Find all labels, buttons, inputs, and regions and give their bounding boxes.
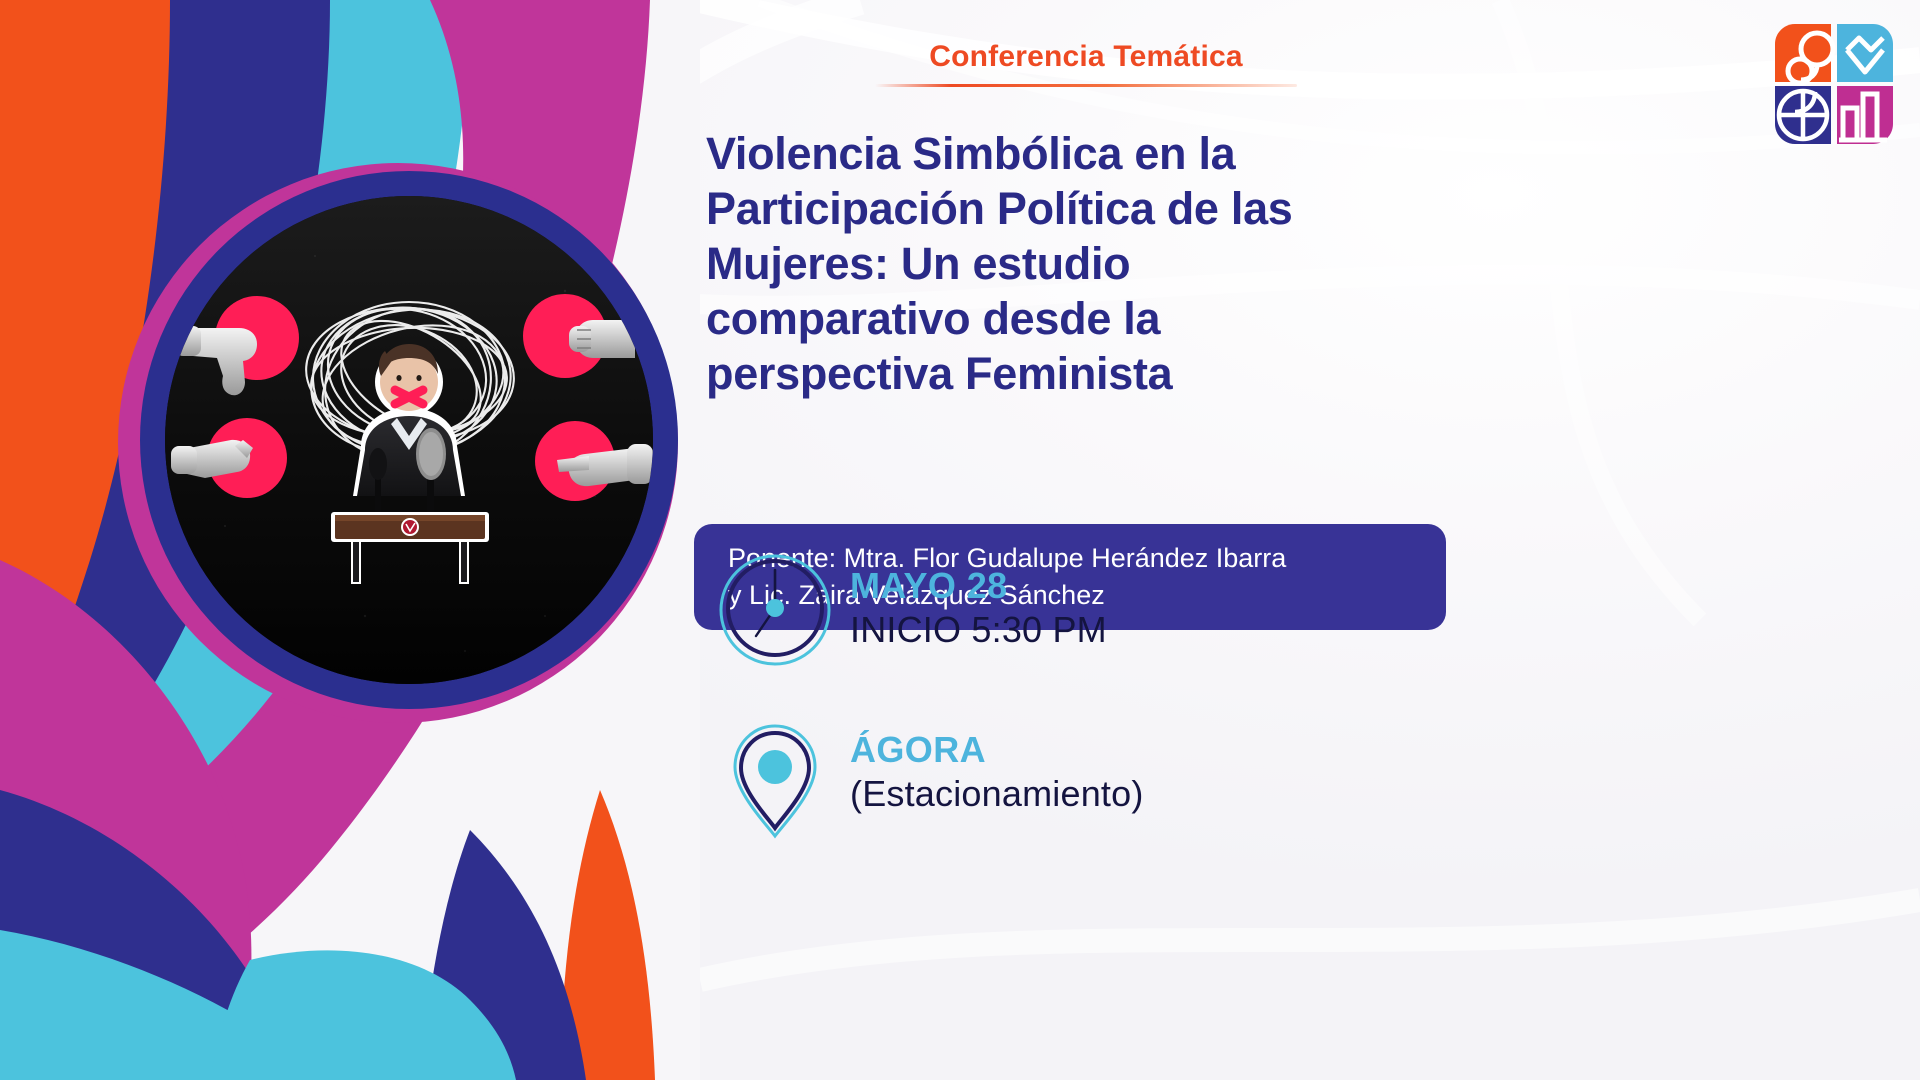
kicker-block: Conferencia Temática <box>706 40 1466 87</box>
kicker-label: Conferencia Temática <box>706 40 1466 74</box>
red-x-over-mouth <box>395 390 423 404</box>
kicker-underline <box>875 84 1297 87</box>
date-subtitle: INICIO 5:30 PM <box>850 607 1107 653</box>
title-line: Mujeres: Un estudio <box>706 236 1416 291</box>
photo-circle <box>118 163 678 723</box>
date-time-text: MAYO 28 INICIO 5:30 PM <box>850 565 1107 653</box>
photo-collage-illustration <box>165 196 653 684</box>
clock-icon <box>714 548 836 670</box>
title-line: perspectiva Feminista <box>706 346 1416 401</box>
date-title: MAYO 28 <box>850 565 1107 607</box>
map-pin-icon <box>714 712 836 834</box>
location-subtitle: (Estacionamiento) <box>850 771 1144 817</box>
page-title: Violencia Simbólica en la Participación … <box>706 126 1416 401</box>
title-line: Violencia Simbólica en la <box>706 126 1416 181</box>
date-time-block: MAYO 28 INICIO 5:30 PM <box>714 548 1107 670</box>
speaker-photo <box>165 196 653 684</box>
poster-canvas: Conferencia Temática Violencia Simbólica… <box>0 0 1920 1080</box>
title-line: Participación Política de las <box>706 181 1416 236</box>
location-block: ÁGORA (Estacionamiento) <box>714 712 1144 834</box>
location-title: ÁGORA <box>850 729 1144 771</box>
title-line: comparativo desde la <box>706 291 1416 346</box>
institution-logo <box>1773 22 1895 146</box>
location-text: ÁGORA (Estacionamiento) <box>850 729 1144 817</box>
content-column: Conferencia Temática Violencia Simbólica… <box>700 0 1920 1080</box>
